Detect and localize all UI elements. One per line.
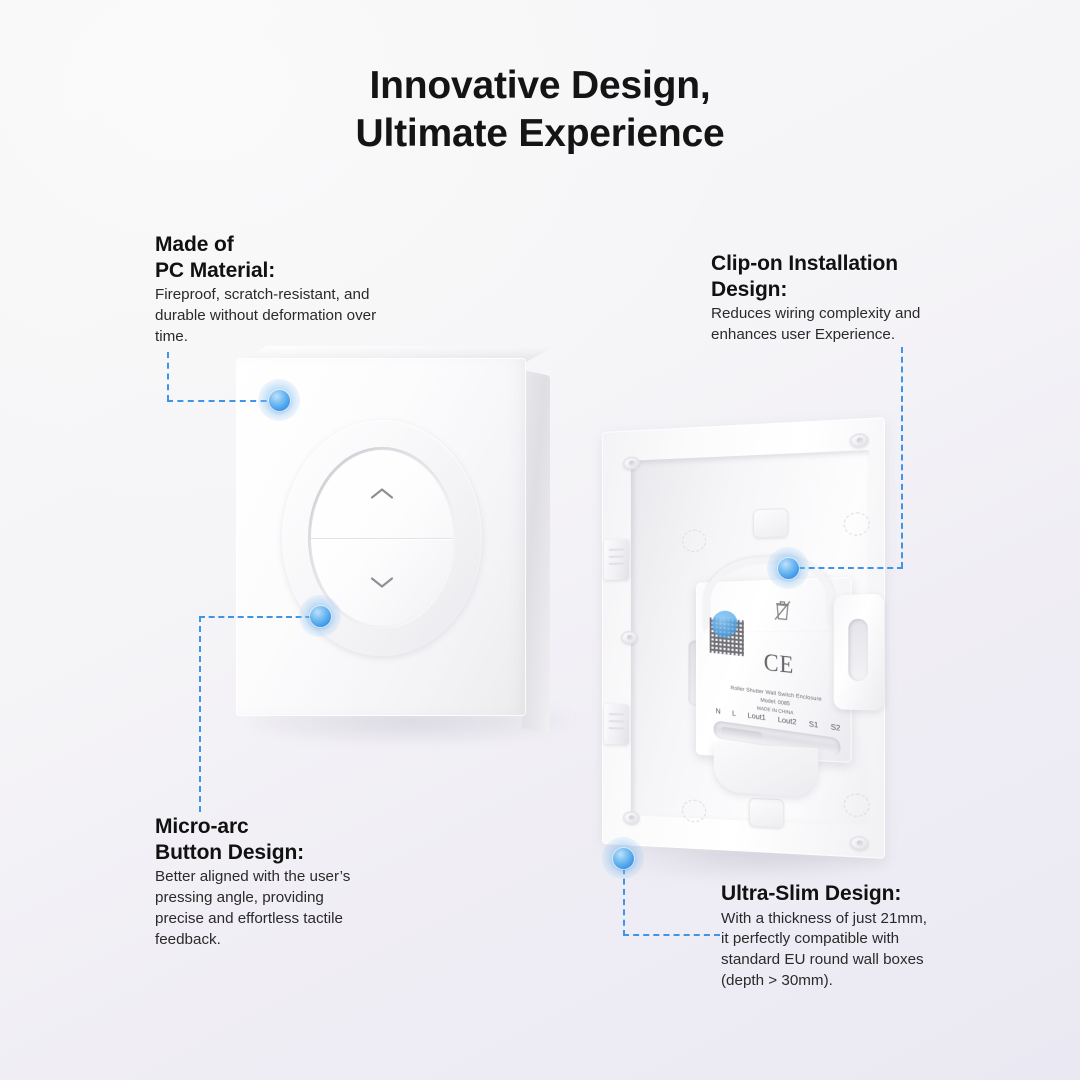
infographic-canvas: Innovative Design, Ultimate Experience <box>0 0 1080 1080</box>
rear-mounting-frame: CE Roller Shutter Wall Switch Enclosure … <box>602 417 885 859</box>
qr-highlight-dot <box>712 610 738 637</box>
module-mounting-ear <box>834 594 884 711</box>
callout-heading: Made of PC Material: <box>155 232 425 283</box>
module-bottom-skirt <box>714 743 818 798</box>
screw-eyelet <box>850 836 868 851</box>
callout-marker-micro-arc[interactable] <box>299 595 341 637</box>
knockout-circle <box>682 799 706 823</box>
knockout-circle <box>844 512 870 536</box>
knockout-circle <box>682 529 706 552</box>
chevron-down-icon <box>369 575 395 590</box>
callout-marker-pc-material[interactable] <box>258 379 300 421</box>
mounting-ear-slot <box>848 619 867 682</box>
terminal-lout2: Lout2 <box>778 717 797 727</box>
terminal-n: N <box>716 708 721 716</box>
callout-heading: Micro-arc Button Design: <box>155 814 410 865</box>
connector-line-ultra-slim <box>623 934 720 936</box>
terminal-lout1: Lout1 <box>748 712 766 722</box>
screw-eyelet <box>621 631 637 644</box>
frame-tongue-cutout <box>749 798 784 829</box>
terminal-s2: S2 <box>831 724 841 733</box>
chevron-up-icon <box>369 486 395 501</box>
title-line-1: Innovative Design, <box>370 64 711 107</box>
callout-marker-clip-on[interactable] <box>767 547 809 589</box>
rocker-split-line <box>311 538 453 539</box>
callout-pc-material: Made of PC Material: Fireproof, scratch-… <box>155 232 425 348</box>
callout-ultra-slim: Ultra-Slim Design: With a thickness of j… <box>721 881 966 992</box>
weee-bin-icon <box>773 598 792 623</box>
switch-module: CE Roller Shutter Wall Switch Enclosure … <box>696 577 852 763</box>
screw-eyelet <box>850 433 868 448</box>
callout-body: Reduces wiring complexity and enhances u… <box>711 304 961 346</box>
callout-marker-ultra-slim[interactable] <box>602 837 644 879</box>
connector-line-micro-arc <box>199 616 201 812</box>
clip-on-tab <box>604 539 629 580</box>
page-title: Innovative Design, Ultimate Experience <box>0 62 1080 159</box>
callout-body: Fireproof, scratch-resistant, and durabl… <box>155 285 425 347</box>
callout-micro-arc-button: Micro-arc Button Design: Better aligned … <box>155 814 410 951</box>
ce-mark: CE <box>764 649 795 680</box>
product-rear-enclosure: CE Roller Shutter Wall Switch Enclosure … <box>598 432 898 872</box>
knockout-circle <box>844 793 870 817</box>
terminal-l: L <box>732 710 736 718</box>
connector-line-clip-on <box>901 347 903 568</box>
callout-body: With a thickness of just 21mm, it perfec… <box>721 909 966 992</box>
callout-clip-on-installation: Clip-on Installation Design: Reduces wir… <box>711 251 961 346</box>
title-line-2: Ultimate Experience <box>0 110 1080 158</box>
callout-body: Better aligned with the user’s pressing … <box>155 867 410 950</box>
callout-heading: Ultra-Slim Design: <box>721 881 966 907</box>
clip-on-tab <box>604 704 629 745</box>
callout-heading: Clip-on Installation Design: <box>711 251 961 302</box>
faceplate-side-edge <box>522 370 550 734</box>
frame-tongue-cutout <box>753 508 788 538</box>
connector-line-pc-material <box>167 352 169 401</box>
screw-eyelet <box>623 811 640 825</box>
terminal-s1: S1 <box>809 721 818 730</box>
